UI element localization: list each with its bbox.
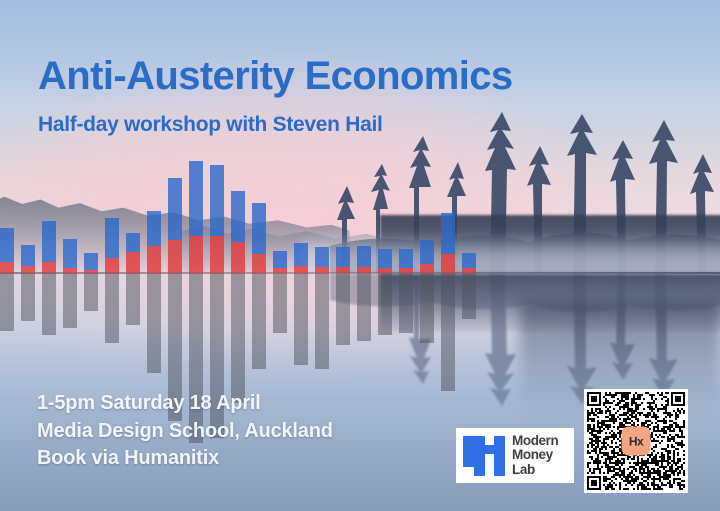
chart-bar-segment-grey [42, 273, 56, 335]
chart-bar-segment-red [42, 262, 56, 273]
event-detail-time: 1-5pm Saturday 18 April [37, 390, 333, 418]
chart-bar-segment-red [0, 262, 14, 273]
chart-bar-segment-blue [336, 247, 350, 267]
chart-bar-segment-blue [105, 218, 119, 258]
chart-bar-segment-blue [252, 203, 266, 254]
chart-bar-segment-grey [336, 273, 350, 345]
chart-bar-segment-grey [252, 273, 266, 369]
chart-bar-segment-red [273, 268, 287, 273]
chart-bar-segment-grey [399, 273, 413, 333]
chart-bar-segment-red [231, 242, 245, 273]
event-poster: Anti-Austerity Economics Half-day worksh… [0, 0, 720, 511]
chart-bar-segment-grey [357, 273, 371, 341]
chart-bar-segment-red [63, 268, 77, 273]
chart-bar-segment-blue [420, 240, 434, 264]
chart-bar-segment-blue [210, 165, 224, 236]
chart-bar-segment-blue [126, 233, 140, 252]
chart-bar-segment-grey [441, 273, 455, 391]
chart-bar-segment-red [147, 246, 161, 273]
chart-bar-segment-red [126, 252, 140, 273]
chart-bar-segment-red [84, 270, 98, 273]
chart-bar-segment-blue [462, 253, 476, 268]
chart-bar-segment-red [399, 268, 413, 273]
humanitix-logo-icon: Hx [622, 427, 651, 456]
chart-bar-segment-red [294, 266, 308, 273]
chart-bar [0, 0, 14, 511]
chart-bar [21, 0, 35, 511]
chart-bar-segment-grey [315, 273, 329, 369]
modern-money-lab-wordmark: Modern Money Lab [512, 434, 558, 476]
chart-bar-segment-red [210, 236, 224, 273]
chart-bar-segment-grey [84, 273, 98, 311]
chart-bar-segment-blue [147, 211, 161, 246]
chart-bar-segment-red [462, 268, 476, 273]
chart-bar-segment-red [168, 240, 182, 273]
chart-bar-segment-grey [462, 273, 476, 319]
chart-bar-segment-blue [399, 249, 413, 268]
chart-bar-segment-grey [231, 273, 245, 403]
logo-line-2: Money [512, 448, 558, 462]
chart-bar-segment-grey [126, 273, 140, 325]
chart-bar-segment-blue [84, 253, 98, 270]
chart-bar-segment-grey [378, 273, 392, 335]
chart-bar-segment-grey [105, 273, 119, 343]
chart-bar-segment-blue [378, 249, 392, 268]
chart-bar-segment-blue [168, 178, 182, 240]
chart-bar-segment-red [315, 267, 329, 273]
chart-bar-segment-grey [21, 273, 35, 321]
chart-bar-segment-red [378, 268, 392, 273]
chart-bar-segment-red [420, 264, 434, 273]
page-subtitle: Half-day workshop with Steven Hail [38, 113, 383, 137]
chart-bar-segment-blue [0, 228, 14, 262]
chart-bar-segment-blue [273, 251, 287, 268]
chart-bar-segment-red [336, 267, 350, 273]
chart-bar-segment-blue [42, 221, 56, 262]
event-detail-venue: Media Design School, Auckland [37, 418, 333, 446]
event-details: 1-5pm Saturday 18 April Media Design Sch… [37, 390, 333, 473]
chart-bar-segment-blue [294, 243, 308, 266]
page-title: Anti-Austerity Economics [38, 54, 513, 99]
chart-bar-segment-blue [21, 245, 35, 266]
chart-bar-segment-blue [63, 239, 77, 268]
chart-bar-segment-blue [441, 213, 455, 254]
chart-bar-segment-red [189, 236, 203, 273]
logo-line-1: Modern [512, 434, 558, 448]
chart-bar-segment-grey [420, 273, 434, 343]
chart-bar-segment-red [252, 254, 266, 273]
chart-bar-segment-red [357, 267, 371, 273]
chart-bar-segment-blue [189, 161, 203, 236]
chart-bar-segment-blue [231, 191, 245, 242]
chart-bar-segment-red [105, 258, 119, 273]
chart-bar-segment-grey [273, 273, 287, 333]
chart-bar-segment-blue [357, 246, 371, 267]
chart-bar-segment-blue [315, 247, 329, 267]
logo-line-3: Lab [512, 463, 558, 477]
humanitix-qr-code[interactable]: Hx [584, 389, 688, 493]
chart-bar-segment-grey [63, 273, 77, 328]
modern-money-lab-mark-icon [463, 436, 505, 476]
modern-money-lab-logo: Modern Money Lab [456, 428, 574, 483]
chart-bar-segment-red [441, 254, 455, 273]
chart-bar-segment-red [21, 266, 35, 273]
chart-bar-segment-grey [0, 273, 14, 331]
chart-bar-segment-grey [294, 273, 308, 365]
chart-bar-segment-grey [147, 273, 161, 373]
event-detail-booking: Book via Humanitix [37, 445, 333, 473]
